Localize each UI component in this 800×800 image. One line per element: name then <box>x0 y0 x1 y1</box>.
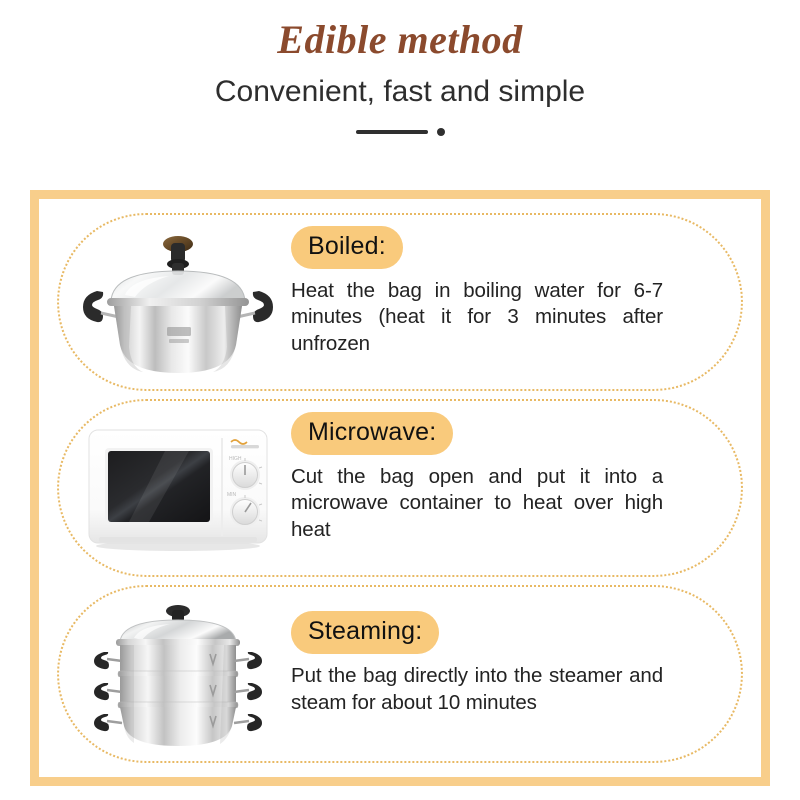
page-title: Edible method <box>0 17 800 63</box>
method-body-boiled: Boiled: Heat the bag in boiling water fo… <box>291 226 741 378</box>
method-badge-boiled: Boiled: <box>291 226 403 269</box>
method-body-microwave: Microwave: Cut the bag open and put it i… <box>291 412 741 564</box>
pot-icon <box>69 223 287 381</box>
method-text-microwave: Cut the bag open and put it into a micro… <box>291 464 663 544</box>
divider-dot <box>437 128 445 136</box>
divider-line-dot-icon <box>0 126 800 138</box>
method-text-boiled: Heat the bag in boiling water for 6-7 mi… <box>291 278 663 358</box>
divider-bar <box>356 130 428 134</box>
method-card-microwave[interactable]: HIGH MIN <box>57 399 743 577</box>
method-body-steaming: Steaming: Put the bag directly into the … <box>291 611 741 737</box>
page-subtitle: Convenient, fast and simple <box>0 75 800 108</box>
method-badge-microwave: Microwave: <box>291 412 453 455</box>
method-text-steaming: Put the bag directly into the steamer an… <box>291 663 663 716</box>
microwave-icon: HIGH MIN <box>69 409 287 567</box>
page-header: Edible method Convenient, fast and simpl… <box>0 0 800 138</box>
method-card-steaming[interactable]: Steaming: Put the bag directly into the … <box>57 585 743 763</box>
svg-text:MIN: MIN <box>227 492 237 498</box>
method-card-list: Boiled: Heat the bag in boiling water fo… <box>39 199 761 777</box>
content-frame: Boiled: Heat the bag in boiling water fo… <box>30 190 770 786</box>
steamer-icon <box>69 595 287 753</box>
method-card-boiled[interactable]: Boiled: Heat the bag in boiling water fo… <box>57 213 743 391</box>
method-badge-steaming: Steaming: <box>291 611 439 654</box>
